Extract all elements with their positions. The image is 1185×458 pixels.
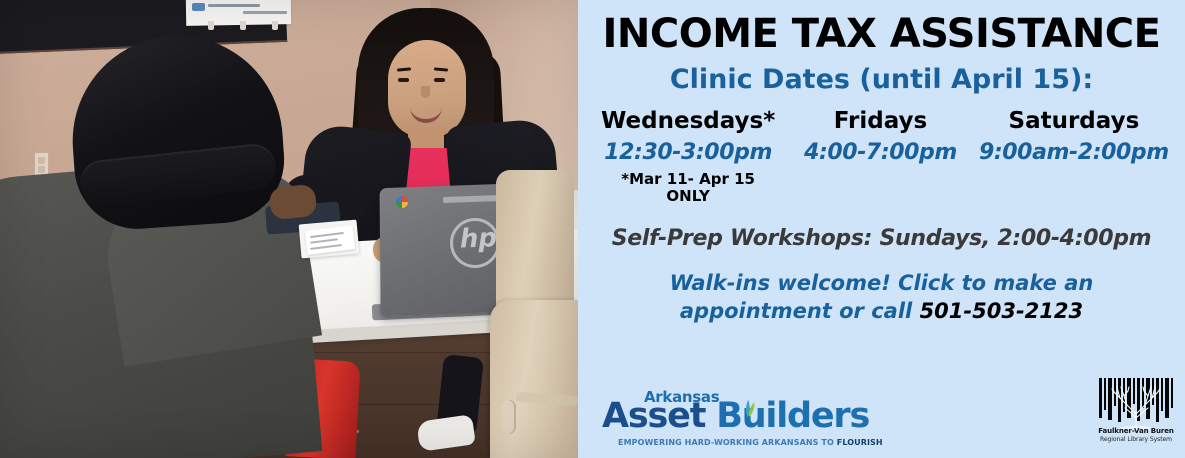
page-title: INCOME TAX ASSISTANCE <box>578 14 1185 54</box>
photo-volunteer-eye <box>434 78 445 82</box>
photo-sign-text <box>208 4 260 7</box>
time-label-saturdays: 9:00am-2:00pm <box>969 141 1179 164</box>
schedule-columns: Wednesdays* 12:30-3:00pm *Mar 11- Apr 15… <box>578 109 1185 206</box>
library-name: Faulkner-Van Buren <box>1095 427 1177 436</box>
info-panel: INCOME TAX ASSISTANCE Clinic Dates (unti… <box>578 0 1185 458</box>
photo-sign-text-2 <box>243 11 287 14</box>
cta-line-2-prefix: appointment or call <box>680 299 920 323</box>
clinic-dates-subtitle: Clinic Dates (until April 15): <box>578 66 1185 93</box>
aab-tagline-flourish: FLOURISH <box>837 438 883 447</box>
aab-tagline: EMPOWERING HARD-WORKING ARKANSANS TO FLO… <box>618 438 883 447</box>
photo-sign-clip <box>208 21 214 30</box>
aab-wordmark: Asset Builders <box>602 399 869 434</box>
time-label-fridays: 4:00-7:00pm <box>792 141 969 164</box>
tax-clinic-photo: hp <box>0 0 578 458</box>
photo-chair-hinge <box>502 400 516 434</box>
arkansas-asset-builders-logo[interactable]: Arkansas Asset Builders EMPOWERING HARD-… <box>602 386 864 452</box>
day-label-fridays: Fridays <box>792 109 969 133</box>
photo-beige-chair <box>490 300 578 458</box>
photo-sign-clip <box>272 21 278 30</box>
photo-volunteer-eye <box>398 78 409 82</box>
day-label-wednesdays: Wednesdays* <box>584 109 792 133</box>
day-label-saturdays: Saturdays <box>969 109 1179 133</box>
footer-logos: Arkansas Asset Builders EMPOWERING HARD-… <box>578 380 1185 454</box>
tree-icon <box>1105 386 1167 430</box>
appointment-cta-link[interactable]: Walk-ins welcome! Click to make an appoi… <box>578 269 1185 326</box>
aab-asset-word: Asset <box>602 396 716 436</box>
cta-line-2: appointment or call 501-503-2123 <box>578 297 1185 325</box>
leaf-icon <box>739 400 755 417</box>
schedule-column-fridays: Fridays 4:00-7:00pm <box>792 109 969 164</box>
wednesdays-date-note: *Mar 11- Apr 15 ONLY <box>584 171 792 206</box>
wednesdays-date-note-line1: *Mar 11- Apr 15 <box>584 171 792 188</box>
self-prep-workshops-text: Self-Prep Workshops: Sundays, 2:00-4:00p… <box>578 226 1185 251</box>
faulkner-van-buren-library-logo[interactable]: Faulkner-Van Buren Regional Library Syst… <box>1095 378 1177 450</box>
photo-beige-chair-back <box>496 170 574 310</box>
schedule-column-wednesdays: Wednesdays* 12:30-3:00pm *Mar 11- Apr 15… <box>584 109 792 206</box>
schedule-column-saturdays: Saturdays 9:00am-2:00pm <box>969 109 1179 164</box>
photo-sign-clip <box>240 21 246 30</box>
time-label-wednesdays: 12:30-3:00pm <box>584 141 792 164</box>
library-subtitle: Regional Library System <box>1095 436 1177 443</box>
photo-sign-logo <box>192 3 205 11</box>
income-tax-assistance-banner: hp INCOME TAX ASSISTANCE Clinic Dates (u… <box>0 0 1185 458</box>
aab-tagline-prefix: EMPOWERING HARD-WORKING ARKANSANS TO <box>618 438 837 447</box>
phone-number[interactable]: 501-503-2123 <box>920 299 1084 323</box>
wednesdays-date-note-line2: ONLY <box>584 188 792 205</box>
photo-volunteer-nose <box>421 86 430 98</box>
cta-line-1: Walk-ins welcome! Click to make an <box>578 269 1185 297</box>
